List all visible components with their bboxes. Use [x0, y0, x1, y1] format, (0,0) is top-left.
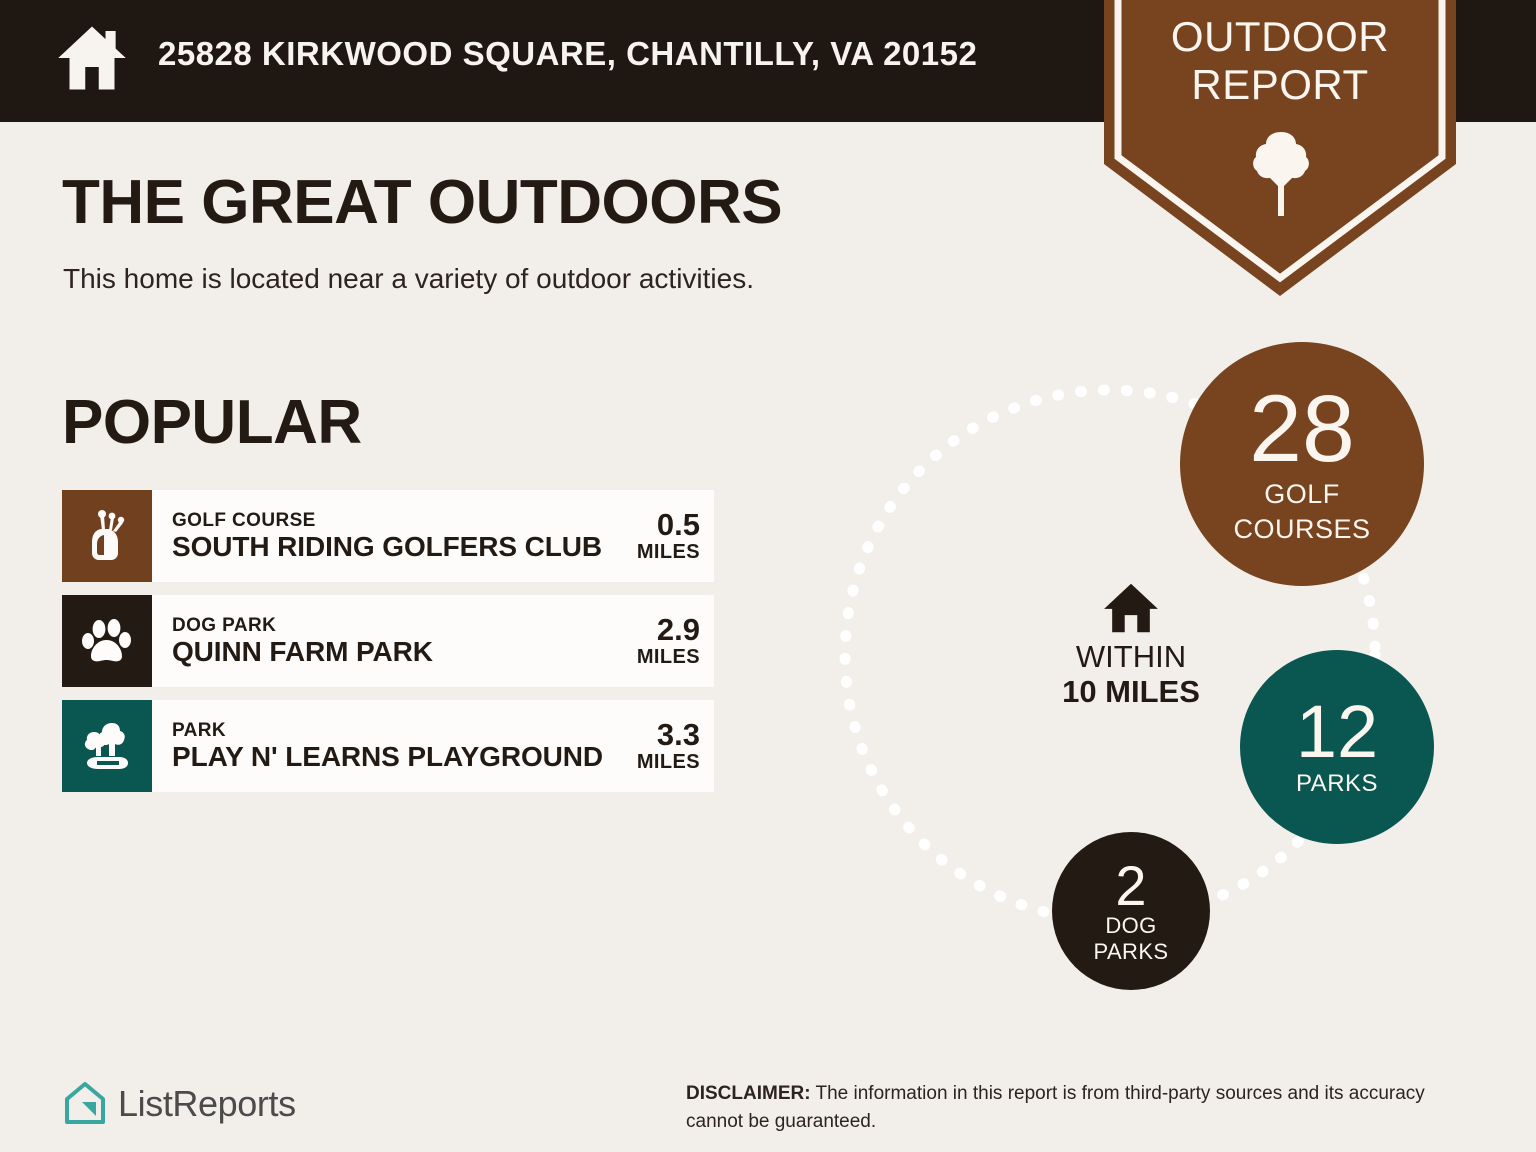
list-item-body: DOG PARK QUINN FARM PARK 2.9 MILES	[152, 595, 714, 687]
listreports-house-tag-icon	[62, 1080, 108, 1128]
stat-value: 12	[1296, 697, 1378, 767]
list-item-text: DOG PARK QUINN FARM PARK	[172, 614, 433, 669]
list-item-body: GOLF COURSE SOUTH RIDING GOLFERS CLUB 0.…	[152, 490, 714, 582]
disclaimer-label: DISCLAIMER:	[686, 1083, 811, 1104]
stat-circle-golf-courses: 28 GOLF COURSES	[1180, 342, 1424, 586]
popular-heading: POPULAR	[62, 390, 362, 455]
home-icon	[56, 22, 128, 94]
stats-center-group: WITHIN 10 MILES	[1020, 582, 1242, 709]
stats-diagram: 28 GOLF COURSES 12 PARKS 2 DOG PARKS WIT…	[820, 330, 1470, 1010]
stat-value: 2	[1115, 859, 1146, 912]
list-item-body: PARK PLAY N' LEARNS PLAYGROUND 3.3 MILES	[152, 700, 714, 792]
list-item-category: GOLF COURSE	[172, 509, 602, 533]
stat-circle-parks: 12 PARKS	[1240, 650, 1434, 844]
list-item-distance: 2.9 MILES	[627, 614, 700, 669]
distance-unit: MILES	[637, 646, 700, 668]
list-item-name: SOUTH RIDING GOLFERS CLUB	[172, 532, 602, 563]
listreports-logo[interactable]: ListReports	[62, 1080, 296, 1128]
stat-label-line-2: COURSES	[1233, 515, 1370, 544]
list-item-distance: 0.5 MILES	[627, 509, 700, 564]
list-item-name: QUINN FARM PARK	[172, 637, 433, 668]
stat-label-line-1: PARKS	[1296, 771, 1378, 797]
outdoor-report-page: 25828 KIRKWOOD SQUARE, CHANTILLY, VA 201…	[0, 0, 1536, 1152]
popular-list: GOLF COURSE SOUTH RIDING GOLFERS CLUB 0.…	[62, 490, 714, 805]
list-item[interactable]: PARK PLAY N' LEARNS PLAYGROUND 3.3 MILES	[62, 700, 714, 792]
golf-bag-icon-tile	[62, 490, 152, 582]
radius-label: 10 MILES	[1020, 675, 1242, 710]
stat-value: 28	[1249, 384, 1355, 474]
list-item-name: PLAY N' LEARNS PLAYGROUND	[172, 742, 603, 773]
list-item[interactable]: DOG PARK QUINN FARM PARK 2.9 MILES	[62, 595, 714, 687]
park-trees-icon	[79, 718, 135, 774]
outdoor-report-badge: OUTDOOR REPORT	[1104, 0, 1456, 308]
page-subtitle: This home is located near a variety of o…	[63, 263, 754, 295]
distance-value: 3.3	[637, 719, 700, 752]
paw-print-icon	[79, 613, 135, 669]
stat-circle-dog-parks: 2 DOG PARKS	[1052, 832, 1210, 990]
distance-value: 0.5	[637, 509, 700, 542]
list-item-category: DOG PARK	[172, 614, 433, 638]
list-item[interactable]: GOLF COURSE SOUTH RIDING GOLFERS CLUB 0.…	[62, 490, 714, 582]
distance-unit: MILES	[637, 751, 700, 773]
paw-print-icon-tile	[62, 595, 152, 687]
page-title: THE GREAT OUTDOORS	[62, 170, 782, 235]
list-item-text: GOLF COURSE SOUTH RIDING GOLFERS CLUB	[172, 509, 602, 564]
distance-unit: MILES	[637, 541, 700, 563]
list-item-text: PARK PLAY N' LEARNS PLAYGROUND	[172, 719, 603, 774]
badge-line-1: OUTDOOR	[1104, 16, 1456, 58]
list-item-category: PARK	[172, 719, 603, 743]
list-item-distance: 3.3 MILES	[627, 719, 700, 774]
stat-label-line-2: PARKS	[1094, 940, 1169, 964]
disclaimer: DISCLAIMER: The information in this repo…	[686, 1080, 1486, 1135]
property-address: 25828 KIRKWOOD SQUARE, CHANTILLY, VA 201…	[158, 35, 977, 73]
stat-label-line-1: DOG	[1105, 914, 1156, 938]
within-label: WITHIN	[1020, 640, 1242, 675]
tree-icon	[1250, 130, 1312, 218]
golf-bag-icon	[80, 509, 134, 563]
home-icon	[1102, 582, 1160, 634]
badge-line-2: REPORT	[1104, 64, 1456, 106]
stat-label-line-1: GOLF	[1264, 480, 1340, 509]
distance-value: 2.9	[637, 614, 700, 647]
park-trees-icon-tile	[62, 700, 152, 792]
listreports-wordmark: ListReports	[118, 1083, 296, 1125]
